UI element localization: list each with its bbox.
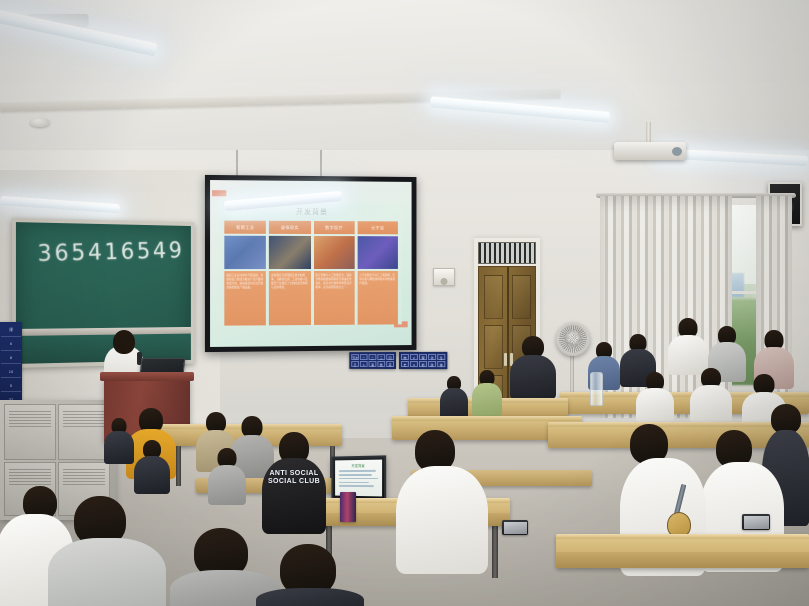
projector-mount-pole [646,122,651,144]
schedule-cell: 地 [419,361,427,367]
student-front-left-4 [256,544,364,606]
slide-column-image [224,236,266,269]
slide-column-body: 随着工业自动化的不断发展，智能制造已经成为推动产业升级的重要方向，越来越多的企业… [224,271,266,326]
laptop-screen-line [339,470,376,472]
desk-front-face [556,552,809,568]
door-transom-window [478,242,536,264]
slide-column-4: 元宇宙 元宇宙概念带动了三维建模、实时渲染与网络协同技术的快速迭代发展。 [357,221,398,324]
slide-column-image [313,236,354,269]
slide-column-header: 数字医疗 [313,221,354,234]
slide-column-body: 虚拟现实与增强现实技术的成熟，为教育培训、工业仿真以及娱乐产业提供了全新的交互体… [269,271,310,325]
smartphone-on-desk-2[interactable] [742,514,770,530]
schedule-cell: 三 [377,354,385,360]
guitar-graphic-icon [665,482,695,538]
slide-column-2: 虚拟现实 虚拟现实与增强现实技术的成熟，为教育培训、工业仿真以及娱乐产业提供了全… [269,221,310,326]
schedule-cell: 数 [377,361,385,367]
student-mid-2 [440,376,468,418]
student-row2-c [104,418,134,462]
slide-column-image [357,236,398,269]
desk-edge [556,534,809,539]
shirt-text-print: ANTI SOCIAL SOCIAL CLUB [265,470,323,485]
student-torso [690,385,732,423]
schedule-cell: 化 [428,354,436,360]
side-sign-row: 10 [1,365,21,378]
blackboard-chalk-text: 365416549 [37,238,185,267]
desk-edge [392,416,582,421]
wall-box-dot-icon [441,278,448,285]
laptop-screen-line [339,474,372,476]
projector-lens-icon [672,147,682,156]
blackboard: 365416549 [12,218,194,368]
slide-column-header: 智能工业 [224,221,266,234]
schedule-panel-left: 节次 一 二 三 四 五 1 语 数 英 [349,352,396,369]
schedule-cell: 理 [419,354,427,360]
slide-column-3: 数字医疗 医疗影像与人工智能结合，辅助诊断系统能够帮助医生快速定位病灶，提高诊疗… [313,221,354,325]
water-bottle [590,372,603,406]
laptop-user-student [396,430,488,570]
side-notice-sign: 课 6 8 10 5 37 [0,322,22,408]
student-torso [396,466,488,574]
schedule-cell: 2 [410,354,418,360]
student-torso [134,456,170,494]
student-torso [510,355,556,399]
presentation-slide: 开发背景 智能工业 随着工业自动化的不断发展，智能制造已经成为推动产业升级的重要… [220,202,402,325]
wall-fan[interactable] [556,322,590,356]
presenter-head [113,330,135,354]
fan-grill-icon [559,325,587,353]
laptop-screen-line [339,478,378,480]
desk-leg [176,446,181,486]
smartphone-on-desk[interactable] [502,520,528,535]
locker-vent-icon [9,469,51,485]
podium-top-surface [100,372,194,381]
schedule-cell: 二 [369,354,377,360]
locker-vent-icon [9,411,51,427]
drink-carton [340,492,356,522]
student-row2-b [208,448,246,502]
schedule-cell: 3 [410,361,418,367]
locker-vent-icon [63,469,105,485]
student-back-1 [510,336,556,398]
student-torso [208,465,246,505]
student-mid-1 [472,370,502,414]
locker-cell[interactable] [58,404,110,460]
slide-column-header: 虚拟现实 [269,221,310,234]
phone-screen-icon [504,522,527,534]
side-sign-row: 6 [1,338,21,351]
student-row2-a [134,440,170,492]
schedule-panel-right: 物 2 理 化 生 史 3 地 政 体 [399,352,447,369]
student-torso [104,431,134,464]
slide-columns: 智能工业 随着工业自动化的不断发展，智能制造已经成为推动产业升级的重要方向，越来… [224,221,398,326]
slide-column-1: 智能工业 随着工业自动化的不断发展，智能制造已经成为推动产业升级的重要方向，越来… [224,221,266,326]
student-torso [472,383,502,416]
student-torso [636,388,674,422]
student-mid-3 [636,372,674,420]
schedule-cell: 一 [360,354,368,360]
schedule-cell: 史 [401,361,409,367]
student-laptop-screen: 开发背景 [335,460,382,497]
schedule-board: 节次 一 二 三 四 五 1 语 数 英 物 2 理 化 生 史 3 地 政 体 [349,352,447,369]
schedule-cell: 五 [351,361,359,367]
slide-column-image [269,236,310,269]
student-torso [256,588,364,606]
side-sign-row: 课 [1,324,21,337]
door-panel [512,275,531,319]
desk-leg [492,524,498,578]
classroom-photo-scene: 开发背景 智能工业 随着工业自动化的不断发展，智能制造已经成为推动产业升级的重要… [0,0,809,606]
schedule-cell: 物 [401,354,409,360]
laptop-screen-line [339,485,374,487]
side-sign-row: 5 [1,379,21,392]
schedule-cell: 1 [360,361,368,367]
student-back-2 [668,318,708,374]
anti-social-shirt-student: ANTI SOCIAL SOCIAL CLUB [262,432,326,532]
laptop-screen-heading: 开发背景 [337,463,380,469]
schedule-cell: 生 [437,354,445,360]
locker-vent-icon [63,411,105,427]
schedule-cell: 体 [437,361,445,367]
door-handle-left[interactable] [504,353,507,366]
smoke-detector-icon [30,118,50,127]
schedule-cell: 英 [386,361,394,367]
wall-junction-box [433,268,455,286]
slide-column-header: 元宇宙 [357,221,398,234]
ceiling-projector [614,142,686,160]
phone-screen-icon [744,516,769,529]
schedule-cell: 政 [428,361,436,367]
slide-column-body: 医疗影像与人工智能结合，辅助诊断系统能够帮助医生快速定位病灶，提高诊疗效率并降低… [313,271,354,325]
door-panel [484,275,503,319]
side-sign-row: 8 [1,352,21,365]
slide-corner-tag-left [212,190,226,196]
desk-front-right [556,534,809,568]
slide-column-body: 元宇宙概念带动了三维建模、实时渲染与网络协同技术的快速迭代发展。 [357,271,398,325]
locker-cell[interactable] [4,404,56,460]
student-mid-4 [690,368,732,420]
student-torso [48,538,166,606]
schedule-cell: 语 [369,361,377,367]
door-panel [484,325,503,369]
schedule-cell: 四 [386,354,394,360]
laptop-screen-line [339,481,369,483]
student-front-left-2 [48,496,166,606]
schedule-cell: 节次 [351,354,359,360]
